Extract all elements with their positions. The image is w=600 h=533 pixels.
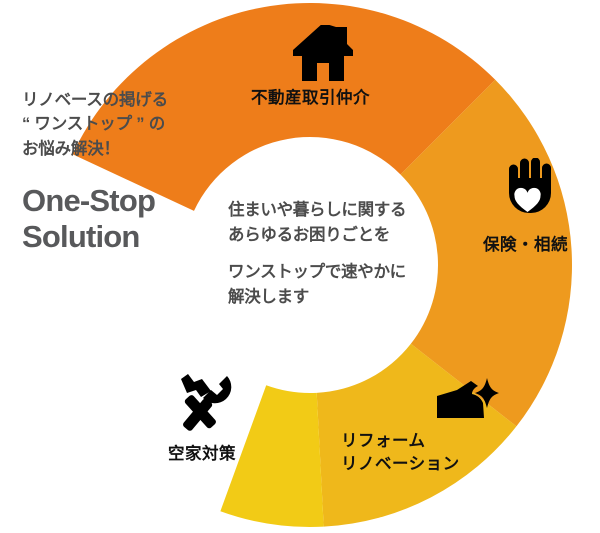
center-line-3: ワンストップで速やかに [228,260,453,285]
hammer-wrench-icon [172,373,234,436]
page-title: One-Stop Solution [22,183,222,256]
lead-line-3: お悩み解決！ [22,137,222,161]
center-line-4: 解決します [228,285,453,310]
center-description: 住まいや暮らしに関する あらゆるお困りごとを ワンストップで速やかに 解決します [228,198,453,310]
house-icon [292,25,354,88]
segment-label-vacant: 空家対策 [168,443,236,466]
headline-block: リノベースの掲げる “ ワンストップ ” の お悩み解決！ One-Stop S… [22,88,222,256]
segment-label-reform: リフォーム リノベーション [341,430,460,476]
brand-line-2: Solution [22,219,222,255]
hand-heart-icon [500,158,555,231]
segment-label-insurance: 保険・相続 [483,234,568,257]
segment-label-realestate: 不動産取引仲介 [251,87,370,110]
lead-line-2: “ ワンストップ ” の [22,112,222,136]
center-line-2: あらゆるお困りごとを [228,223,453,248]
diagram-canvas: リノベースの掲げる “ ワンストップ ” の お悩み解決！ One-Stop S… [0,0,600,533]
center-line-1: 住まいや暮らしに関する [228,198,453,223]
center-spacer [228,248,453,260]
lead-line-1: リノベースの掲げる [22,88,222,112]
brand-line-1: One-Stop [22,183,222,219]
house-sparkle-icon [437,378,499,435]
